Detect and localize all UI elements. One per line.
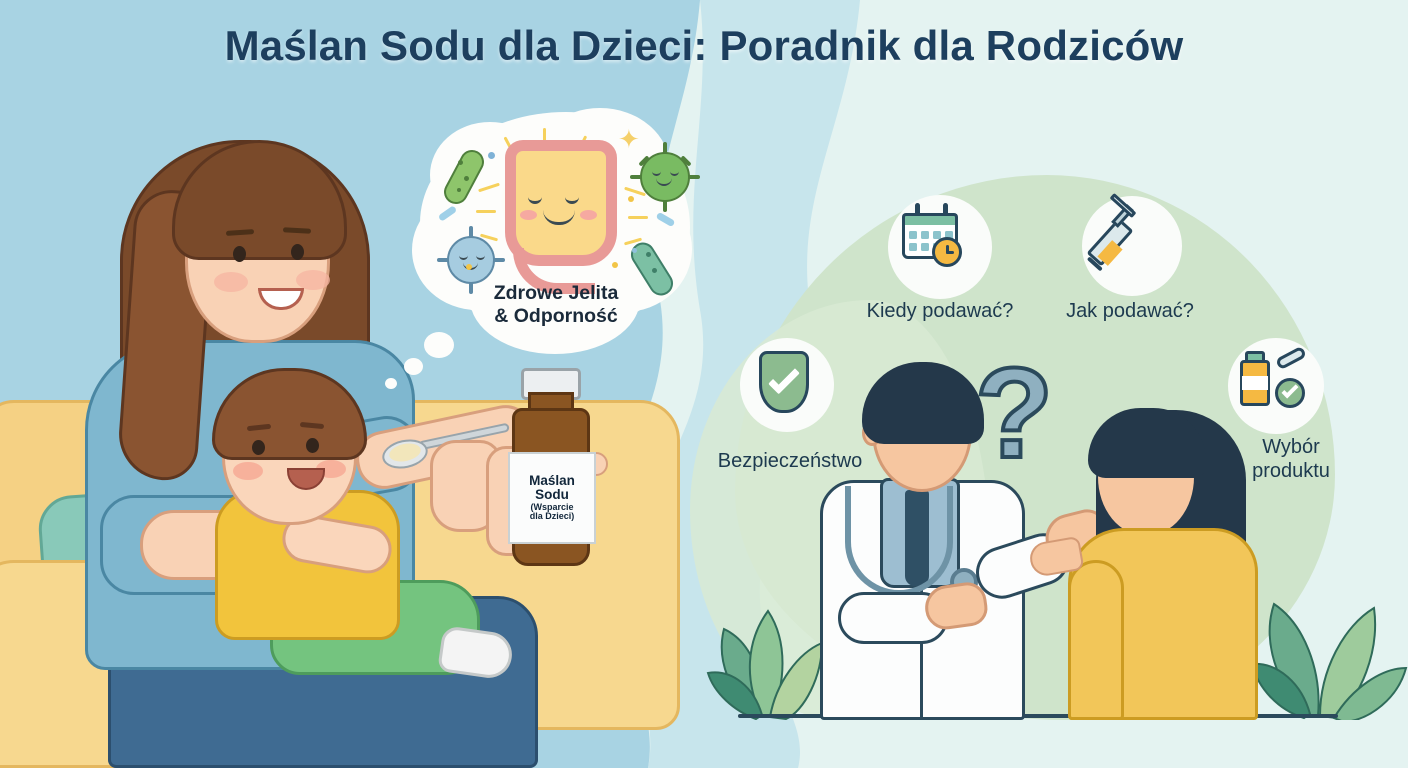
syringe-icon[interactable] — [1082, 196, 1182, 296]
calendar-clock-icon[interactable] — [888, 195, 992, 299]
plant-left — [700, 545, 830, 720]
shield-check-icon[interactable] — [740, 338, 834, 432]
thought-caption-line-1: Zdrowe Jelita — [420, 282, 692, 305]
question-mark: ? — [975, 350, 1053, 478]
feature-label-wybor-line-1: Wybór — [1216, 436, 1366, 460]
feature-label-jak[interactable]: Jak podawać? — [1030, 300, 1230, 324]
thought-bubble-caption: Zdrowe Jelita & Odporność — [420, 282, 692, 328]
bottle-label-line-1: Maślan — [529, 474, 575, 488]
thought-bubble-dot-1 — [424, 332, 454, 358]
feature-label-kiedy[interactable]: Kiedy podawać? — [830, 300, 1050, 324]
thought-caption-line-2: & Odporność — [420, 305, 692, 328]
feature-label-wybor-line-2: produktu — [1216, 460, 1366, 484]
bottle-label-line-4: dla Dzieci) — [530, 512, 575, 522]
bottle-label-line-2: Sodu — [535, 488, 569, 502]
feature-label-bezpieczenstwo[interactable]: Bezpieczeństwo — [690, 450, 890, 474]
blue-microbe-icon — [447, 236, 495, 284]
stethoscope-icon — [845, 486, 953, 596]
infographic-canvas: Maślan Sodu dla Dzieci: Poradnik dla Rod… — [0, 0, 1408, 768]
feature-label-wybor-produktu[interactable]: Wybór produktu — [1216, 436, 1366, 483]
plant-right — [1248, 520, 1408, 720]
page-title: Maślan Sodu dla Dzieci: Poradnik dla Rod… — [0, 22, 1408, 70]
sparkle-icon: ✦ — [618, 126, 640, 152]
thought-bubble-dot-2 — [404, 358, 423, 375]
thought-bubble-dot-3 — [385, 378, 397, 389]
bottle-dropper-check-icon[interactable] — [1228, 338, 1324, 434]
bottle-label: Maślan Sodu (Wsparcie dla Dzieci) — [508, 452, 596, 544]
